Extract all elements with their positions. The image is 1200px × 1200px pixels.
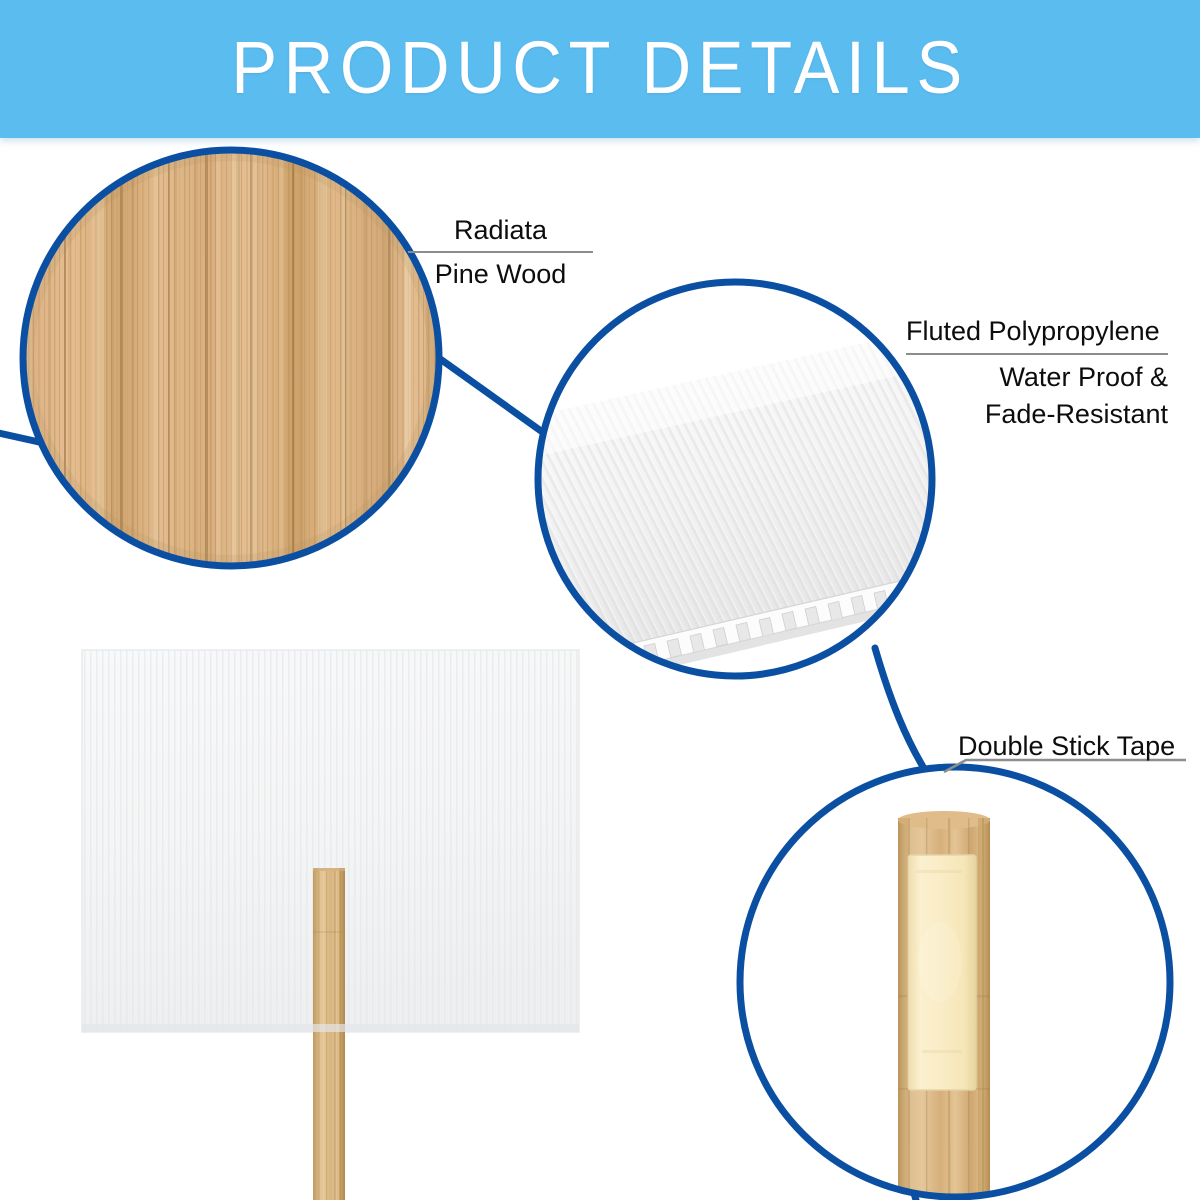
callout-radiata-pine-wood: Radiata Pine Wood: [408, 212, 593, 293]
callout-poly-line3: Fade-Resistant: [906, 396, 1168, 433]
callout-wood-line1: Radiata: [408, 212, 593, 249]
callout-poly-line2: Water Proof &: [906, 359, 1168, 396]
detail-illustrations: [0, 0, 1200, 1200]
callout-poly-line1: Fluted Polypropylene: [906, 313, 1168, 350]
infographic-canvas: PRODUCT DETAILS: [0, 0, 1200, 1200]
tape-circle: [738, 765, 1174, 1200]
connector-poly-to-tape: [875, 648, 928, 775]
product-photo-yard-sign: [82, 650, 579, 1200]
callout-wood-rule: [408, 251, 593, 253]
callout-wood-line2: Pine Wood: [408, 256, 593, 293]
callout-poly-rule: [906, 353, 1168, 355]
callout-fluted-polypropylene: Fluted Polypropylene Water Proof & Fade-…: [906, 313, 1168, 433]
callout-tape-line1: Double Stick Tape: [958, 728, 1180, 765]
connector-wood-to-poly: [436, 356, 541, 431]
callout-double-stick-tape: Double Stick Tape: [958, 728, 1180, 765]
wood-circle: [20, 145, 445, 575]
